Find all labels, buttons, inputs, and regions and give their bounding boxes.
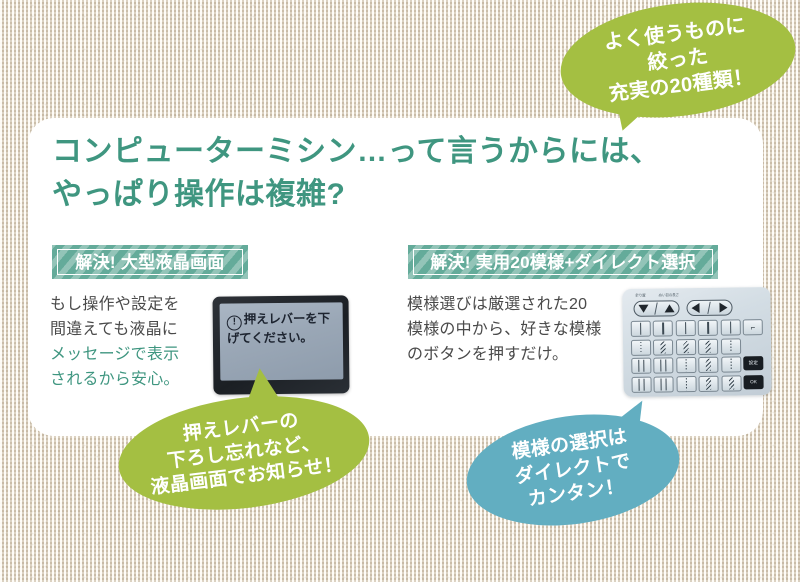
callout-text-lever-notice: 押えレバーの 下ろし忘れなど、 液晶画面でお知らせ！ bbox=[143, 404, 344, 501]
panel-label-needle: 針り置 bbox=[635, 293, 645, 301]
stitch-icon bbox=[640, 341, 641, 353]
stitch-icon bbox=[686, 378, 687, 390]
stitch-icon bbox=[685, 322, 686, 334]
stitch-icon bbox=[683, 341, 688, 353]
stitch-button[interactable] bbox=[631, 321, 651, 337]
advertisement-canvas: コンピューターミシン…って言うからには、 やっぱり操作は複雑? 解決! 大型液晶… bbox=[0, 0, 800, 582]
control-panel-photo: 針り置 ぬい目の長さ ⌐ bbox=[622, 287, 771, 397]
divider bbox=[708, 302, 712, 314]
panel-label-stitch-length: ぬい目の長さ bbox=[659, 293, 679, 301]
stitch-icon bbox=[730, 340, 731, 352]
stitch-button[interactable] bbox=[698, 338, 718, 354]
stitch-button[interactable] bbox=[721, 357, 741, 373]
stitch-button[interactable] bbox=[631, 339, 651, 355]
badge-label-lcd: 解決! 大型液晶画面 bbox=[75, 254, 224, 271]
copy-lcd-plain: もし操作や設定を 間違えても液晶に bbox=[50, 296, 180, 338]
badge-label-patterns: 解決! 実用20模様+ダイレクト選択 bbox=[430, 254, 696, 271]
stitch-button[interactable] bbox=[676, 357, 696, 373]
stitch-button[interactable] bbox=[653, 339, 673, 355]
stitch-pattern-grid: ⌐ 設定 OK bbox=[629, 319, 766, 393]
settings-button[interactable]: 設定 bbox=[743, 356, 763, 370]
section-copy-patterns: 模様選びは厳選された20 模様の中から、好きな模様 のボタンを押すだけ。 bbox=[407, 293, 617, 368]
lcd-message-row: !押えレバーを下 げてください。 bbox=[227, 310, 337, 347]
callout-text-20-patterns: よく使うものに 絞った 充実の20種類！ bbox=[601, 12, 755, 107]
stitch-icon bbox=[729, 377, 734, 389]
page-title: コンピューターミシン…って言うからには、 やっぱり操作は複雑? bbox=[52, 131, 752, 216]
triangle-up-icon bbox=[665, 304, 675, 312]
stitch-icon bbox=[685, 359, 686, 371]
needle-position-control[interactable] bbox=[633, 300, 679, 317]
stitch-button[interactable] bbox=[720, 319, 740, 335]
stitch-button[interactable] bbox=[631, 376, 651, 392]
stitch-icon bbox=[706, 378, 711, 390]
copy-lcd-accent: メッセージで表示 されるから安心。 bbox=[50, 346, 180, 388]
stitch-button[interactable] bbox=[653, 320, 673, 336]
stitch-icon bbox=[730, 322, 731, 334]
section-badge-patterns: 解決! 実用20模様+ダイレクト選択 bbox=[408, 245, 718, 279]
stitch-icon bbox=[661, 378, 667, 390]
badge-inner-border: 解決! 大型液晶画面 bbox=[57, 249, 243, 275]
stitch-length-control[interactable] bbox=[686, 300, 732, 317]
stitch-button[interactable] bbox=[631, 358, 651, 374]
section-badge-lcd: 解決! 大型液晶画面 bbox=[52, 245, 248, 279]
stitch-button[interactable] bbox=[676, 320, 696, 336]
stitch-button[interactable] bbox=[721, 375, 741, 391]
triangle-left-icon bbox=[692, 303, 700, 313]
stitch-button[interactable] bbox=[698, 357, 718, 373]
stitch-icon bbox=[638, 360, 644, 372]
divider bbox=[655, 303, 659, 315]
stitch-button[interactable] bbox=[676, 339, 696, 355]
stitch-icon bbox=[661, 360, 667, 372]
stitch-icon bbox=[706, 340, 711, 352]
stitch-icon bbox=[706, 359, 711, 371]
stitch-button[interactable] bbox=[698, 320, 718, 336]
stitch-button[interactable] bbox=[676, 376, 696, 392]
triangle-down-icon bbox=[638, 305, 648, 313]
reverse-stitch-button[interactable]: ⌐ bbox=[743, 319, 763, 335]
stitch-icon bbox=[640, 323, 641, 335]
stitch-button[interactable] bbox=[699, 375, 719, 391]
triangle-right-icon bbox=[719, 303, 727, 313]
stitch-icon bbox=[707, 322, 708, 334]
panel-arrow-controls bbox=[628, 299, 764, 317]
section-copy-lcd: もし操作や設定を 間違えても液晶に メッセージで表示 されるから安心。 bbox=[50, 293, 218, 393]
stitch-icon bbox=[661, 341, 666, 353]
stitch-button[interactable] bbox=[654, 358, 674, 374]
warning-icon: ! bbox=[227, 315, 242, 330]
lcd-message-text: 押えレバーを下 げてください。 bbox=[227, 311, 330, 345]
badge-inner-border: 解決! 実用20模様+ダイレクト選択 bbox=[413, 249, 713, 275]
stitch-button[interactable] bbox=[654, 376, 674, 392]
callout-text-direct-select: 模様の選択は ダイレクトで カンタン！ bbox=[510, 425, 636, 515]
stitch-icon bbox=[638, 379, 644, 391]
panel-spacer bbox=[743, 338, 763, 354]
stitch-button[interactable] bbox=[721, 338, 741, 354]
stitch-icon bbox=[730, 359, 731, 371]
stitch-icon bbox=[662, 322, 663, 334]
ok-button[interactable]: OK bbox=[744, 375, 764, 389]
